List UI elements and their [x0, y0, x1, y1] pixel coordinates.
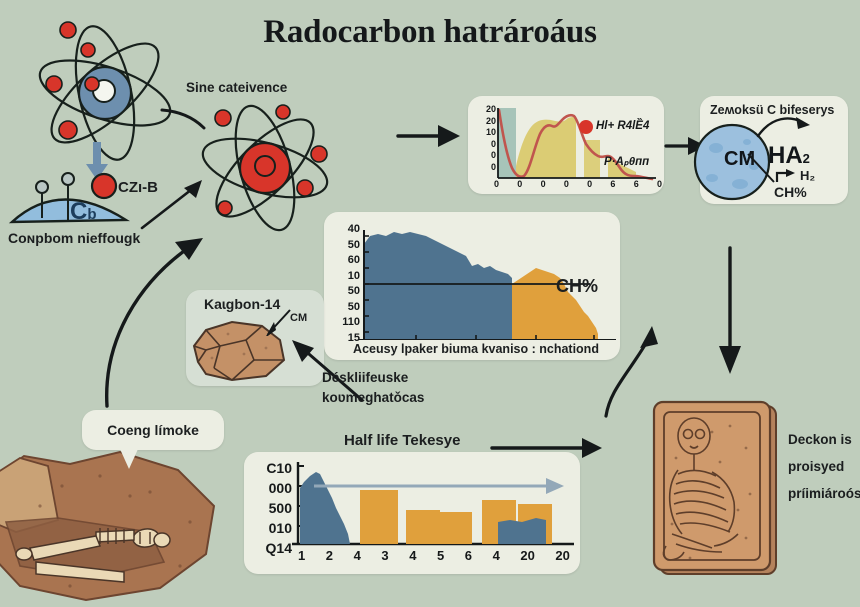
x-tick-7: 0 [657, 179, 662, 189]
arrow-down-to-slab [712, 246, 748, 380]
deckon-line-3: príimiároós [788, 480, 860, 507]
y-tick-1: 20 [472, 116, 496, 128]
molecule-body-label: Cb [70, 198, 97, 226]
rock-panel[interactable]: Kaɩgbon-14 CM [186, 290, 324, 386]
bottom-chart-last-bar [492, 460, 562, 550]
arrow-to-line-chart [398, 108, 464, 150]
mid-y-tick-0: 40 [328, 222, 360, 238]
bot-x-tick-2: 4 [354, 548, 361, 563]
planet-sub-formula: H₂ [800, 168, 815, 183]
x-tick-1: 0 [517, 179, 522, 189]
x-tick-2: 0 [541, 179, 546, 189]
bot-x-tick-6: 6 [465, 548, 472, 563]
x-tick-4: 0 [587, 179, 592, 189]
bot-x-tick-5: 5 [437, 548, 444, 563]
deskliifeuske-note: Déskliifeuske koʋmeghatǒcas [322, 368, 424, 408]
planet-panel[interactable]: Zeʍoksü C bifeserys CM HA2 H₂ [700, 96, 848, 204]
x-tick-3: 0 [564, 179, 569, 189]
coeng-limoke-bubble[interactable]: Coeng límoke [82, 410, 224, 450]
y-tick-4: 0 [472, 150, 496, 162]
carbon-molecule-diagram: CZı-B Cb [8, 170, 168, 232]
deckon-line-1: Deckon is [788, 426, 860, 453]
mid-chart-y-axis: 40 50 60 10 50 50 110 15 [328, 222, 360, 346]
mid-chart-threshold-label: CH% [556, 276, 598, 297]
x-tick-0: 0 [494, 179, 499, 189]
molecule-nucleus-label: CZı-B [118, 179, 158, 196]
mid-y-tick-2: 60 [328, 253, 360, 269]
bottom-bar-chart-panel[interactable]: C10 000 500 010 Q14 [244, 452, 580, 574]
x-tick-5: 6 [610, 179, 615, 189]
bot-x-tick-3: 3 [381, 548, 388, 563]
bubble-tail-icon [120, 449, 138, 469]
deskliifeuske-line2: koʋmeghatǒcas [322, 388, 424, 408]
deskliifeuske-line1: Déskliifeuske [322, 368, 424, 388]
deckon-note: Deckon is proisyed príimiároós [788, 426, 860, 507]
atom-diagram-neutral [20, 18, 190, 168]
mid-bar-chart-panel[interactable]: 40 50 60 10 50 50 110 15 [324, 212, 620, 360]
mid-chart-xlabel: Aceusy lpaker biuma kvaniso : nchationd [332, 342, 620, 356]
mid-y-tick-6: 110 [328, 315, 360, 331]
mid-y-tick-3: 10 [328, 269, 360, 285]
bottom-chart-x-axis: 1 2 4 3 4 5 6 4 20 20 [298, 548, 570, 563]
mid-y-tick-4: 50 [328, 284, 360, 300]
rock-callout-label: CM [290, 312, 307, 324]
bot-x-tick-8: 20 [520, 548, 534, 563]
bot-x-tick-4: 4 [409, 548, 416, 563]
y-tick-0: 20 [472, 104, 496, 116]
sarcophagus-slab [650, 398, 790, 580]
coeng-limoke-label: Coeng límoke [82, 410, 224, 450]
deckon-line-2: proisyed [788, 453, 860, 480]
y-tick-2: 10 [472, 127, 496, 139]
molecule-body-letter: C [70, 198, 87, 225]
bottom-chart-title: Half life Tekesye [344, 432, 460, 449]
planet-formula-sub: 2 [803, 151, 810, 166]
line-chart-y-axis: 20 20 10 0 0 0 [472, 104, 496, 174]
y-tick-3: 0 [472, 139, 496, 151]
bot-x-tick-0: 1 [298, 548, 305, 563]
molecule-body-subscript: b [87, 206, 96, 223]
planet-leader-line-icon [746, 152, 782, 188]
atom-diagram-excited [185, 96, 345, 241]
x-tick-6: 6 [634, 179, 639, 189]
molecule-caption: Coɴpbom nieffougk [8, 228, 140, 248]
mid-y-tick-5: 50 [328, 300, 360, 316]
planet-curved-arrow-icon [756, 114, 816, 142]
bot-x-tick-1: 2 [326, 548, 333, 563]
line-chart-panel[interactable]: 20 20 10 0 0 0 0 0 0 0 0 6 6 0 Hl+ R4lȄ4… [468, 96, 664, 194]
mid-y-tick-1: 50 [328, 238, 360, 254]
y-tick-5: 0 [472, 162, 496, 174]
line-chart-annotation: P·Aₚθпп [604, 154, 649, 168]
planet-bottom-label: CH% [774, 184, 807, 200]
bot-x-tick-9: 20 [555, 548, 569, 563]
line-chart-legend-label: Hl+ R4lȄ4 [596, 120, 649, 132]
infographic-canvas: Radocarbon hatrároáus [0, 0, 860, 602]
sine-cateivence-label: Sine cateivence [186, 78, 287, 98]
line-chart-x-axis: 0 0 0 0 0 6 6 0 [494, 179, 662, 189]
bot-x-tick-7: 4 [493, 548, 500, 563]
